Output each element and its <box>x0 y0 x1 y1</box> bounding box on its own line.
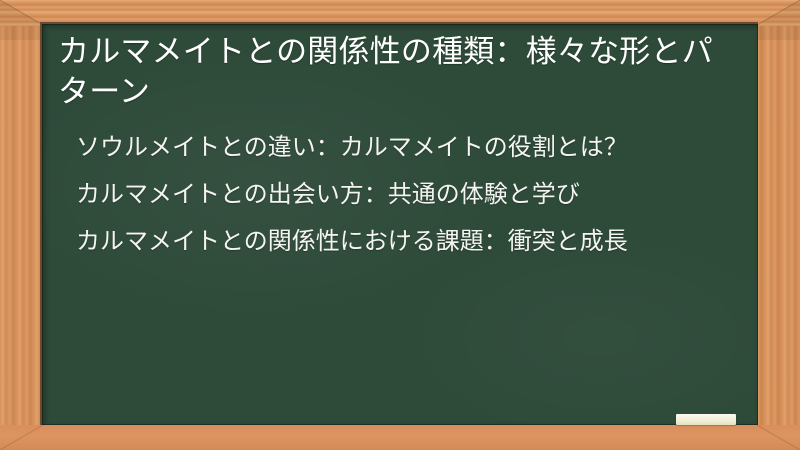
wooden-frame-bottom-ledge <box>0 425 800 450</box>
wooden-frame-top-rail <box>0 0 800 26</box>
chalkboard-surface: カルマメイトとの関係性の種類：様々な形とパターン ソウルメイトとの違い：カルマメ… <box>42 24 758 425</box>
blackboard-card: カルマメイトとの関係性の種類：様々な形とパターン ソウルメイトとの違い：カルマメ… <box>0 0 800 450</box>
table-of-contents-list: ソウルメイトとの違い：カルマメイトの役割とは？ カルマメイトとの出会い方：共通の… <box>58 131 740 259</box>
list-item[interactable]: ソウルメイトとの違い：カルマメイトの役割とは？ <box>76 131 740 165</box>
list-item[interactable]: カルマメイトとの関係性における課題：衝突と成長 <box>76 225 740 259</box>
chalk-stick <box>676 414 736 425</box>
list-item[interactable]: カルマメイトとの出会い方：共通の体験と学び <box>76 178 740 212</box>
board-content: カルマメイトとの関係性の種類：様々な形とパターン ソウルメイトとの違い：カルマメ… <box>42 24 758 259</box>
page-title: カルマメイトとの関係性の種類：様々な形とパターン <box>58 32 740 113</box>
